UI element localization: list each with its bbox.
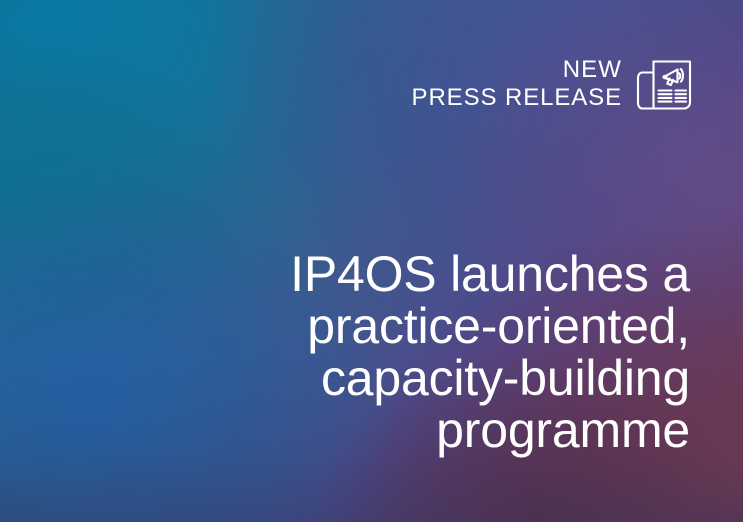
headline-line-1: IP4OS launches a	[150, 248, 690, 300]
press-release-banner: NEW PRESS RELEASE	[0, 0, 743, 522]
headline-line-3: capacity-building	[150, 352, 690, 404]
badge-text-block: NEW PRESS RELEASE	[412, 58, 622, 110]
page-title: IP4OS launches a practice-oriented, capa…	[150, 248, 690, 456]
headline-line-4: programme	[150, 404, 690, 456]
badge-label-press-release: PRESS RELEASE	[412, 86, 622, 110]
newspaper-megaphone-icon	[628, 48, 700, 120]
badge-label-new: NEW	[563, 58, 622, 82]
press-release-badge: NEW PRESS RELEASE	[0, 48, 700, 120]
headline-line-2: practice-oriented,	[150, 300, 690, 352]
